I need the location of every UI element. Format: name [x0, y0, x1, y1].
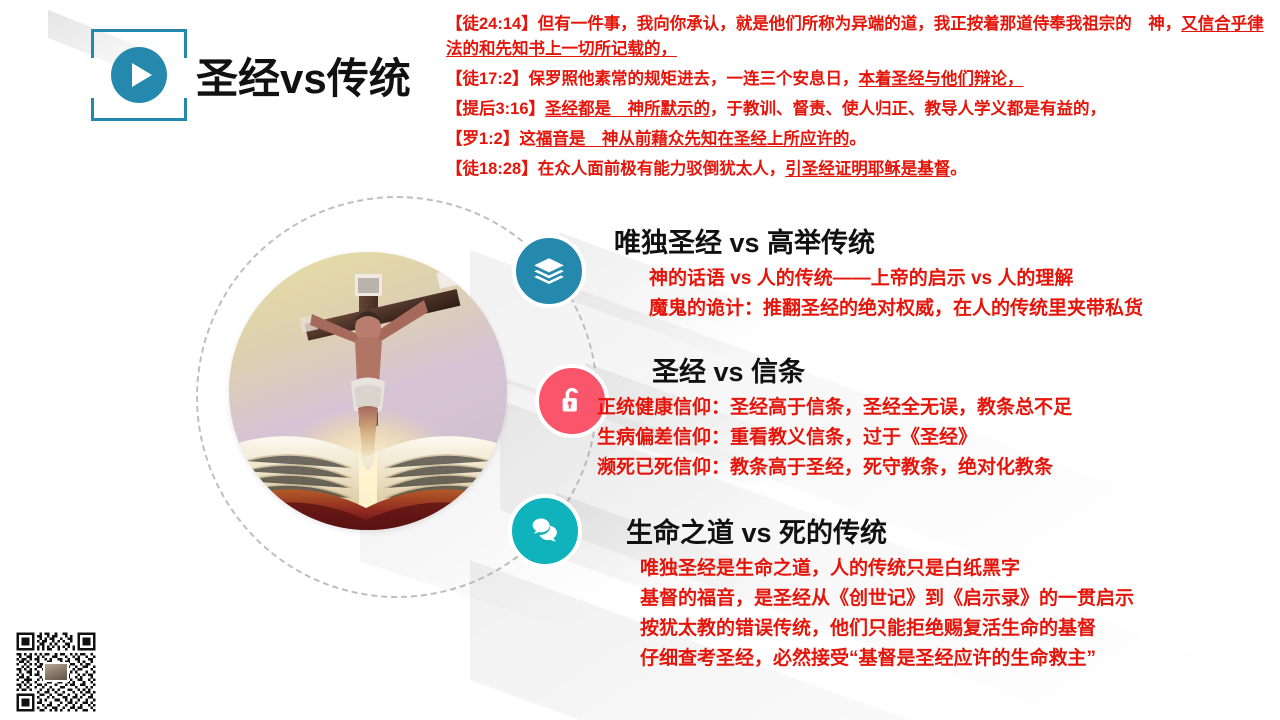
crucifix-over-open-bible-photo — [229, 252, 507, 530]
verse-item: 【徒24:14】但有一件事，我向你承认，就是他们所称为异端的道，我正按着那道侍奉… — [446, 12, 1276, 62]
feature-line: 正统健康信仰：圣经高于信条，圣经全无误，教条总不足 — [597, 393, 1072, 423]
feature-heading: 唯独圣经 vs 高举传统 — [614, 226, 1143, 260]
page-title: 圣经vs传统 — [196, 45, 411, 106]
slide-root: 圣经vs传统 【徒24:14】但有一件事，我向你承认，就是他们所称为异端的道，我… — [0, 0, 1280, 720]
chat-bubbles-icon-glyph — [528, 514, 562, 548]
verse-item: 【徒17:2】保罗照他素常的规矩进去，一连三个安息日，本着圣经与他们辩论， — [446, 67, 1276, 92]
scripture-block: 【徒24:14】但有一件事，我向你承认，就是他们所称为异端的道，我正按着那道侍奉… — [446, 12, 1276, 187]
layers-icon[interactable] — [512, 234, 586, 308]
unlock-icon-glyph — [555, 384, 589, 418]
verse-item: 【徒18:28】在众人面前极有能力驳倒犹太人，引圣经证明耶稣是基督。 — [446, 157, 1276, 182]
feature-line: 基督的福音，是圣经从《创世记》到《启示录》的一贯启示 — [640, 584, 1134, 614]
feature-lines: 神的话语 vs 人的传统——上帝的启示 vs 人的理解 魔鬼的诡计：推翻圣经的绝… — [614, 264, 1143, 324]
verse-reference: 【徒24:14】 — [446, 15, 538, 33]
verse-reference: 【徒18:28】 — [446, 160, 538, 178]
verse-text: ，于教训、督责、使人归正、教导人学义都是有益的， — [710, 100, 1106, 118]
feature-block-3: 生命之道 vs 死的传统 唯独圣经是生命之道，人的传统只是白纸黑字 基督的福音，… — [626, 516, 1134, 674]
verse-text: 。 — [849, 130, 866, 148]
verse-reference: 【徒17:2】 — [446, 70, 529, 88]
feature-heading: 圣经 vs 信条 — [652, 355, 1072, 389]
feature-heading: 生命之道 vs 死的传统 — [626, 516, 1134, 550]
feature-block-2: 圣经 vs 信条 正统健康信仰：圣经高于信条，圣经全无误，教条总不足 生病偏差信… — [652, 355, 1072, 483]
verse-text: 在众人面前极有能力驳倒犹太人， — [538, 160, 786, 178]
photo-illustration — [229, 252, 507, 530]
feature-lines: 唯独圣经是生命之道，人的传统只是白纸黑字 基督的福音，是圣经从《创世记》到《启示… — [626, 554, 1134, 674]
qr-code[interactable] — [14, 630, 98, 714]
feature-line: 唯独圣经是生命之道，人的传统只是白纸黑字 — [640, 554, 1134, 584]
play-circle-icon — [111, 47, 167, 103]
brand-logo — [91, 29, 187, 121]
verse-text: 。 — [950, 160, 967, 178]
chat-bubbles-icon[interactable] — [508, 494, 582, 568]
feature-block-1: 唯独圣经 vs 高举传统 神的话语 vs 人的传统——上帝的启示 vs 人的理解… — [614, 226, 1143, 324]
feature-line: 生病偏差信仰：重看教义信条，过于《圣经》 — [597, 423, 1072, 453]
verse-text: 这 — [519, 130, 536, 148]
layers-icon-glyph — [532, 254, 566, 288]
verse-text-underlined: 本着圣经与他们辩论， — [859, 70, 1024, 88]
feature-lines: 正统健康信仰：圣经高于信条，圣经全无误，教条总不足 生病偏差信仰：重看教义信条，… — [597, 393, 1072, 483]
verse-text: 保罗照他素常的规矩进去，一连三个安息日， — [529, 70, 859, 88]
verse-text: 但有一件事，我向你承认，就是他们所称为异端的道，我正按着那道侍奉我祖宗的 神， — [538, 15, 1182, 33]
verse-item: 【提后3:16】圣经都是 神所默示的，于教训、督责、使人归正、教导人学义都是有益… — [446, 97, 1276, 122]
verse-reference: 【罗1:2】 — [446, 130, 519, 148]
feature-line: 神的话语 vs 人的传统——上帝的启示 vs 人的理解 — [649, 264, 1143, 294]
feature-line: 仔细查考圣经，必然接受“基督是圣经应许的生命救主” — [640, 644, 1134, 674]
verse-item: 【罗1:2】这福音是 神从前藉众先知在圣经上所应许的。 — [446, 127, 1276, 152]
verse-text-underlined: 引圣经证明耶稣是基督 — [785, 160, 950, 178]
feature-line: 濒死已死信仰：教条高于圣经，死守教条，绝对化教条 — [597, 453, 1072, 483]
qr-center-logo — [43, 662, 69, 682]
feature-line: 按犹太教的错误传统，他们只能拒绝赐复活生命的基督 — [640, 614, 1134, 644]
verse-text-underlined: 福音是 神从前藉众先知在圣经上所应许的 — [536, 130, 850, 148]
feature-line: 魔鬼的诡计：推翻圣经的绝对权威，在人的传统里夹带私货 — [649, 294, 1143, 324]
verse-text-underlined: 圣经都是 神所默示的 — [545, 100, 710, 118]
verse-reference: 【提后3:16】 — [446, 100, 545, 118]
